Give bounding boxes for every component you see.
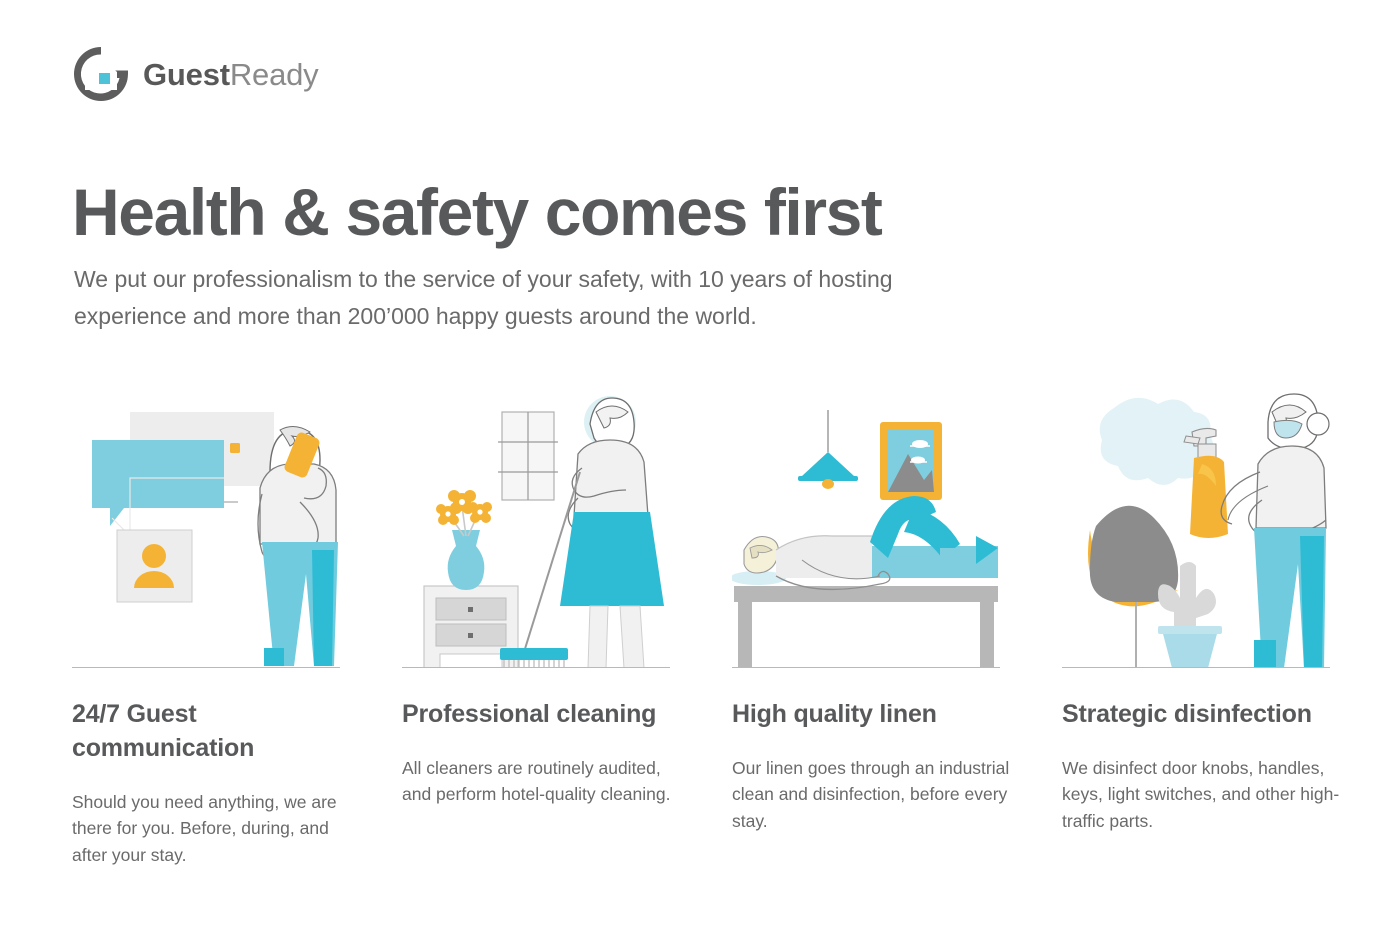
feature-card-title: 24/7 Guest communication <box>72 698 362 766</box>
brand-logo[interactable]: GuestReady <box>72 45 318 103</box>
brand-wordmark: GuestReady <box>143 59 318 90</box>
feature-card: Professional cleaning All cleaners are r… <box>402 390 692 808</box>
illustration-baseline <box>402 667 670 668</box>
feature-card-body: Our linen goes through an industrial cle… <box>732 755 1022 835</box>
feature-card: 24/7 Guest communication Should you need… <box>72 390 362 868</box>
illustration-baseline <box>732 667 1000 668</box>
strategic-disinfection-illustration <box>1062 390 1330 668</box>
feature-card-list: 24/7 Guest communication Should you need… <box>0 390 1400 890</box>
illustration-baseline <box>1062 667 1330 668</box>
page-subtitle: We put our professionalism to the servic… <box>74 261 974 336</box>
page-title: Health & safety comes first <box>72 178 882 247</box>
guest-communication-illustration <box>72 390 340 668</box>
brand-wordmark-bold: Guest <box>143 57 230 92</box>
feature-card-title: Strategic disinfection <box>1062 698 1352 732</box>
professional-cleaning-illustration <box>402 390 670 668</box>
feature-card-body: All cleaners are routinely audited, and … <box>402 755 692 808</box>
page-root: GuestReady Health & safety comes first W… <box>0 0 1400 933</box>
high-quality-linen-illustration <box>732 390 1000 668</box>
feature-card-body: Should you need anything, we are there f… <box>72 789 362 869</box>
feature-card: Strategic disinfection We disinfect door… <box>1062 390 1352 835</box>
feature-card-body: We disinfect door knobs, handles, keys, … <box>1062 755 1352 835</box>
feature-card: High quality linen Our linen goes throug… <box>732 390 1022 835</box>
feature-card-title: High quality linen <box>732 698 1022 732</box>
feature-card-title: Professional cleaning <box>402 698 692 732</box>
illustration-baseline <box>72 667 340 668</box>
guestready-house-logo-icon <box>72 45 130 103</box>
brand-wordmark-light: Ready <box>230 57 319 92</box>
